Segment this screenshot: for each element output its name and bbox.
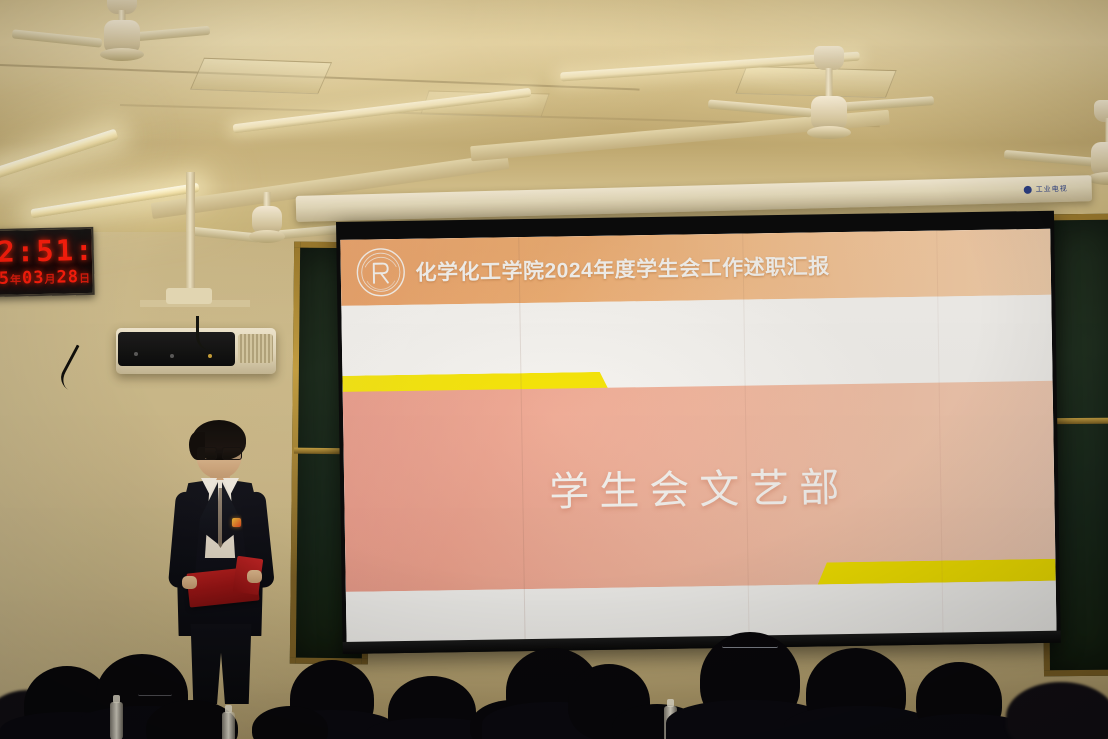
fan-mount (814, 46, 844, 70)
projector-vent (238, 334, 273, 363)
projector-indicator-dot (134, 352, 138, 356)
ceiling-fan (764, 56, 894, 160)
glasses-lens-left (197, 447, 217, 460)
brand-mark-icon (1024, 186, 1032, 194)
audience-glasses-icon (722, 640, 778, 648)
slide-header-title: 化学化工学院2024年度学生会工作述职汇报 (415, 250, 830, 287)
presenter-glasses-icon (197, 447, 242, 458)
glasses-lens-right (222, 447, 242, 460)
water-bottle (110, 702, 123, 739)
ceiling-fan (62, 0, 182, 64)
projector-indicator-dot (208, 354, 212, 358)
presenter-legs (188, 624, 254, 704)
projection-screen: 化学化工学院2024年度学生会工作述职汇报 学生会文艺部 (336, 211, 1061, 654)
clock-time: 12:51:33 (0, 233, 82, 269)
slide-main-text: 学生会文艺部 (549, 455, 850, 518)
projector-indicator-dot (170, 354, 174, 358)
clock-date-day: 28 (56, 267, 79, 287)
slide-header: 化学化工学院2024年度学生会工作述职汇报 (340, 229, 1051, 306)
ceiling-vent-panel (190, 58, 332, 95)
led-wall-clock: 12:51:33 025年03月28日 9 (0, 227, 95, 297)
screen-brand-logo: 工业电视 (1024, 184, 1068, 195)
water-bottle (222, 712, 235, 739)
slide-body: 学生会文艺部 (343, 381, 1056, 592)
presenter-hand-right (247, 570, 262, 583)
presenter-hand-left (182, 576, 197, 589)
fan-hub (807, 126, 851, 139)
fan-hub (100, 48, 144, 61)
presenter-lapel-badge (232, 518, 241, 527)
clock-date: 025年03月28日 9 (0, 267, 81, 289)
fan-motor (811, 96, 847, 130)
screen-surface: 化学化工学院2024年度学生会工作述职汇报 学生会文艺部 (340, 229, 1056, 644)
clock-date-month: 03 (22, 268, 45, 288)
fan-motor (1091, 142, 1108, 176)
projector-cable (196, 316, 225, 350)
lecture-hall-scene: 工业电视 (0, 0, 1108, 739)
projector-bracket (166, 288, 212, 304)
audience-glasses-icon (138, 688, 172, 696)
fan-hub (249, 230, 285, 243)
screen-brand-text: 工业电视 (1036, 184, 1068, 195)
slide: 化学化工学院2024年度学生会工作述职汇报 学生会文艺部 (340, 229, 1056, 644)
clock-date-year: 025 (0, 269, 10, 290)
presenter (170, 424, 270, 706)
university-emblem-icon (355, 246, 408, 299)
projector-mount-pole (186, 172, 195, 292)
